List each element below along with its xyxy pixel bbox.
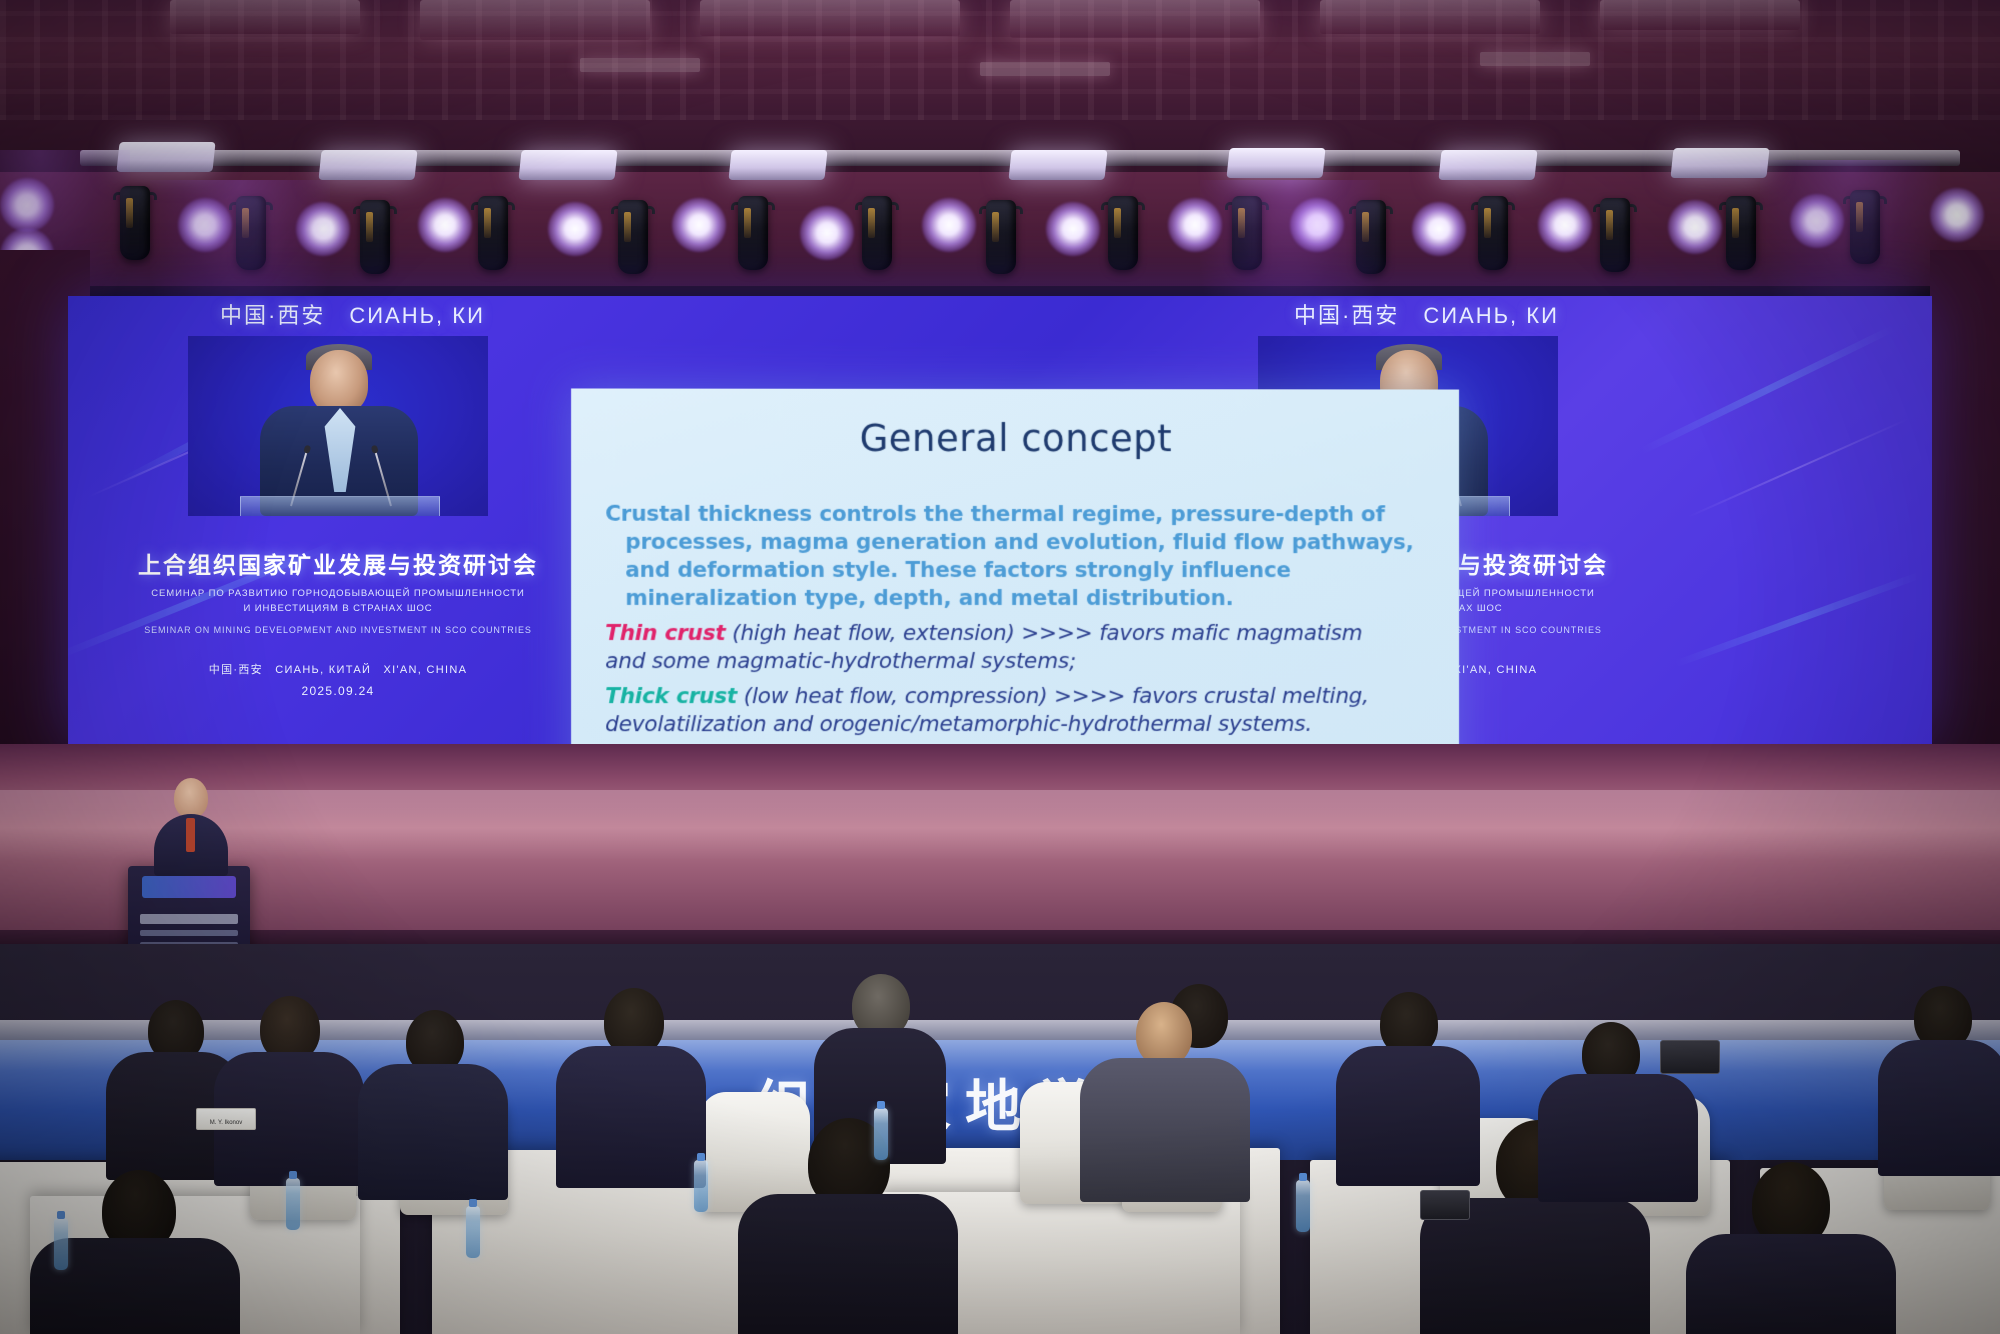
thick-crust-line-2: devolatilization and orogenic/metamorphi… xyxy=(605,710,1437,738)
thin-crust-block: Thin crust (high heat flow, extension) >… xyxy=(605,620,1437,676)
smartphone xyxy=(1420,1190,1470,1220)
water-bottle xyxy=(874,1108,888,1160)
smartphone xyxy=(1660,1040,1720,1074)
podium-text-block xyxy=(140,914,238,924)
light-glow xyxy=(922,198,976,252)
light-glow xyxy=(418,198,472,252)
ceiling-coffer xyxy=(1600,0,1800,30)
light-glow xyxy=(1168,198,1222,252)
thick-crust-line-1: Thick crust (low heat flow, compression)… xyxy=(605,683,1437,711)
podium-logo xyxy=(142,876,236,898)
person-body xyxy=(1080,1058,1250,1202)
panel-light xyxy=(1008,150,1107,180)
water-bottle xyxy=(1296,1180,1310,1232)
speaker-video-left xyxy=(188,336,488,516)
person-body xyxy=(556,1046,706,1188)
paragraph-line-3: and deformation style. These factors str… xyxy=(605,557,1437,585)
speaker-tie xyxy=(186,818,195,852)
panel-light xyxy=(1226,148,1325,178)
audience-member xyxy=(556,988,706,1188)
ceiling-coffer xyxy=(170,0,360,34)
name-card: M. Y. Ikonov xyxy=(196,1108,256,1130)
ceiling-vent xyxy=(580,58,700,72)
panel-light xyxy=(1670,148,1769,178)
branding-subtitle-ru-1: СЕМИНАР ПО РАЗВИТИЮ ГОРНОДОБЫВАЮЩЕЙ ПРОМ… xyxy=(88,587,588,602)
thick-crust-keyword: Thick crust xyxy=(605,684,737,709)
paragraph-line-1: Crustal thickness controls the thermal r… xyxy=(605,501,1437,529)
led-header-right: 中国·西安 СИАНЬ, КИ xyxy=(1294,298,1559,330)
panel-light xyxy=(518,150,617,180)
branding-title-cn: 上合组织国家矿业发展与投资研讨会 xyxy=(88,546,588,580)
light-glow xyxy=(672,198,726,252)
light-glow xyxy=(1290,198,1344,252)
water-bottle xyxy=(54,1218,68,1270)
water-bottle xyxy=(286,1178,300,1230)
light-glow xyxy=(548,202,602,256)
thin-crust-rest: (high heat flow, extension) >>>> favors … xyxy=(725,621,1362,646)
person-body xyxy=(1538,1074,1698,1202)
led-decoration xyxy=(1641,325,1896,454)
light-glow xyxy=(296,202,350,256)
ceiling-coffer xyxy=(420,0,650,40)
thick-crust-rest: (low heat flow, compression) >>>> favors… xyxy=(737,684,1369,709)
person-body xyxy=(1686,1234,1896,1334)
thin-crust-keyword: Thin crust xyxy=(605,621,725,646)
slide-paragraph: Crustal thickness controls the thermal r… xyxy=(605,501,1437,613)
panel-light xyxy=(728,150,827,180)
soffit-edge xyxy=(0,286,2000,296)
branding-left: 上合组织国家矿业发展与投资研讨会 СЕМИНАР ПО РАЗВИТИЮ ГОР… xyxy=(88,546,588,698)
audience-member-front xyxy=(1686,1162,1896,1334)
audience-member-light-blazer xyxy=(1080,1002,1250,1202)
person-body xyxy=(358,1064,508,1200)
light-glow xyxy=(178,198,232,252)
conference-photo: 中国·西安 СИАНЬ, КИ 2025.0 中国·西安 СИАНЬ, КИ 2… xyxy=(0,0,2000,1334)
floor-reflection xyxy=(0,790,2000,860)
panel-light xyxy=(1438,150,1537,180)
speaker-at-podium xyxy=(150,778,230,874)
branding-subtitle-ru-2: И ИНВЕСТИЦИЯМ В СТРАНАХ ШОС xyxy=(88,602,588,617)
water-bottle xyxy=(694,1160,708,1212)
audience-member xyxy=(214,996,364,1186)
audience-member-photographer xyxy=(1538,1010,1698,1200)
light-glow xyxy=(1538,198,1592,252)
ceiling-coffer xyxy=(700,0,960,36)
ceiling-vent xyxy=(980,62,1110,76)
led-decoration xyxy=(1675,572,1922,668)
branding-subtitle-en: SEMINAR ON MINING DEVELOPMENT AND INVEST… xyxy=(88,625,588,635)
thick-crust-block: Thick crust (low heat flow, compression)… xyxy=(605,683,1437,739)
led-header-left: 中国·西安 СИАНЬ, КИ xyxy=(220,298,485,330)
ceiling-coffer xyxy=(1010,0,1260,38)
slide-title: General concept xyxy=(571,417,1459,461)
person-body xyxy=(1878,1040,2000,1176)
light-glow xyxy=(800,206,854,260)
person-body xyxy=(738,1194,958,1334)
speaker-head xyxy=(174,778,208,818)
light-glow xyxy=(1930,188,1984,242)
ceiling-vent xyxy=(1480,52,1590,66)
thin-crust-line-1: Thin crust (high heat flow, extension) >… xyxy=(605,620,1437,648)
branding-city-left: 中国·西安 СИАНЬ, КИТАЙ XI'AN, CHINA xyxy=(88,661,588,677)
light-glow xyxy=(1046,202,1100,256)
audience-member-front xyxy=(738,1118,958,1334)
light-glow xyxy=(1790,194,1844,248)
panel-light xyxy=(116,142,215,172)
thin-crust-line-2: and some magmatic-hydrothermal systems; xyxy=(605,648,1437,676)
light-glow xyxy=(1412,202,1466,256)
panel-light xyxy=(318,150,417,180)
led-decoration xyxy=(1688,418,1908,517)
ceiling-coffer xyxy=(1320,0,1540,34)
person-head xyxy=(1136,1002,1192,1066)
podium-text-block xyxy=(140,930,238,936)
branding-date-left: 2025.09.24 xyxy=(88,684,588,698)
paragraph-line-2: processes, magma generation and evolutio… xyxy=(605,529,1437,557)
light-glow xyxy=(0,178,54,232)
light-glow xyxy=(1668,200,1722,254)
audience-member xyxy=(358,1010,508,1200)
paragraph-line-4: mineralization type, depth, and metal di… xyxy=(605,585,1437,613)
water-bottle xyxy=(466,1206,480,1258)
audience-member xyxy=(1878,986,2000,1176)
